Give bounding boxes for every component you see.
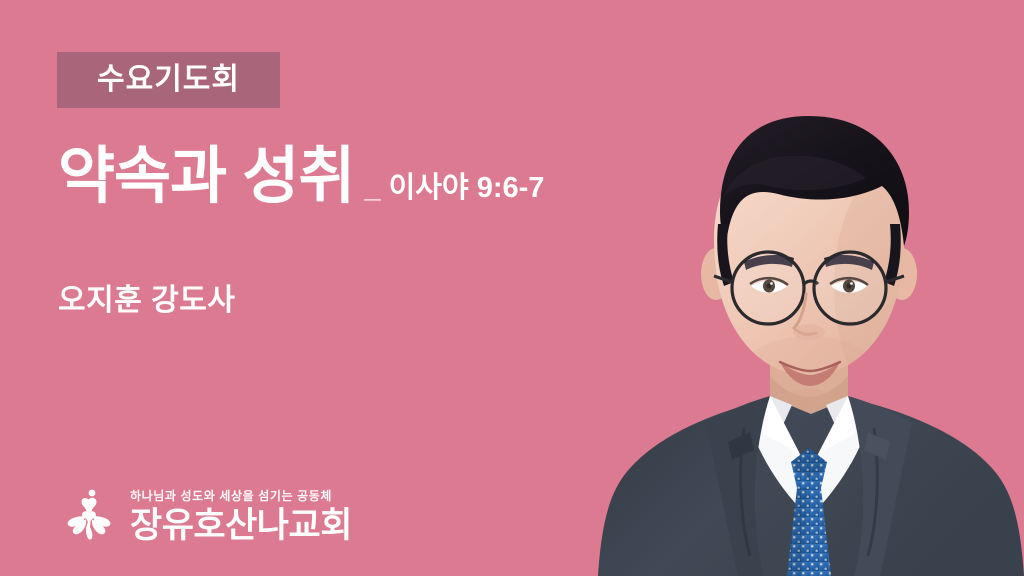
title-row: 약속과 성취 _ 이사야 9:6-7 [58, 146, 544, 208]
church-name: 장유호산나교회 [130, 508, 352, 543]
church-tagline: 하나님과 성도와 세상을 섬기는 공동체 [130, 490, 352, 502]
sermon-title: 약속과 성취 [58, 146, 354, 208]
scripture-reference: _ 이사야 9:6-7 [364, 174, 544, 203]
category-badge-label: 수요기도회 [97, 65, 240, 95]
logo-text-block: 하나님과 성도와 세상을 섬기는 공동체 장유호산나교회 [130, 490, 352, 545]
church-logo: 하나님과 성도와 세상을 섬기는 공동체 장유호산나교회 [58, 483, 352, 545]
sermon-title-slide: 수요기도회 약속과 성취 _ 이사야 9:6-7 오지훈 강도사 [0, 0, 1024, 576]
flower-person-emblem-icon [58, 485, 120, 547]
speaker-name: 오지훈 강도사 [58, 286, 235, 316]
category-badge: 수요기도회 [57, 52, 280, 108]
